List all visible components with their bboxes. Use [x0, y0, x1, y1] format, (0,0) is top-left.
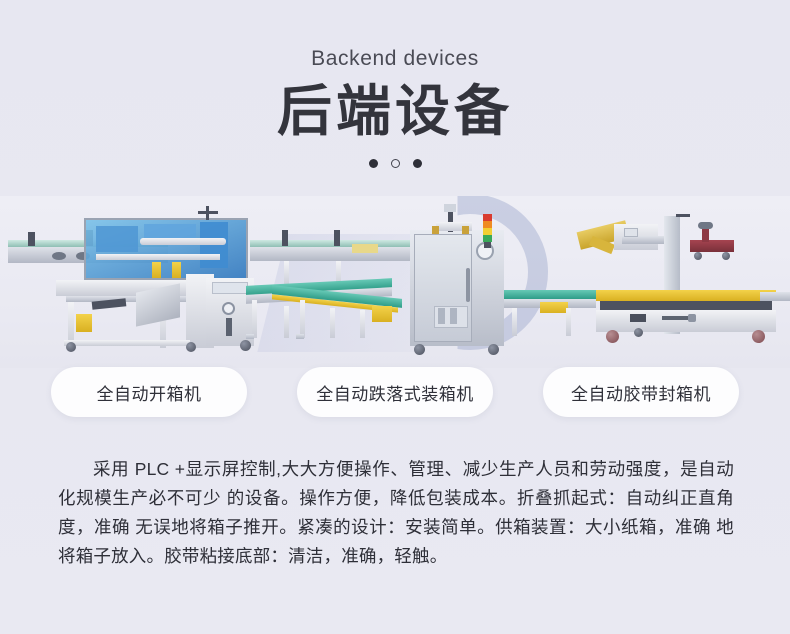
page-title: 后端设备: [0, 83, 790, 141]
carousel-dot-3[interactable]: [413, 159, 422, 168]
description-paragraph: 采用 PLC +显示屏控制,大大方便操作、管理、减少生产人员和劳动强度，是自动化…: [58, 455, 734, 571]
pill-carton-erector[interactable]: 全自动开箱机: [51, 367, 247, 417]
carousel-dot-2[interactable]: [391, 159, 400, 168]
machine-caption-list: 全自动开箱机 全自动跌落式装箱机 全自动胶带封箱机: [0, 367, 790, 417]
pill-drop-case-packer[interactable]: 全自动跌落式装箱机: [297, 367, 493, 417]
page-eyebrow: Backend devices: [0, 48, 790, 69]
page-header: Backend devices 后端设备: [0, 0, 790, 168]
pill-tape-sealer[interactable]: 全自动胶带封箱机: [543, 367, 739, 417]
right-rail-tail: [760, 292, 790, 301]
pill-label: 全自动跌落式装箱机: [316, 380, 474, 405]
machine-line-photo: [0, 196, 790, 368]
page-root: Backend devices 后端设备: [0, 0, 790, 634]
carousel-dots[interactable]: [0, 159, 790, 168]
carousel-dot-1[interactable]: [369, 159, 378, 168]
pill-label: 全自动胶带封箱机: [571, 380, 711, 405]
pill-label: 全自动开箱机: [97, 380, 202, 405]
